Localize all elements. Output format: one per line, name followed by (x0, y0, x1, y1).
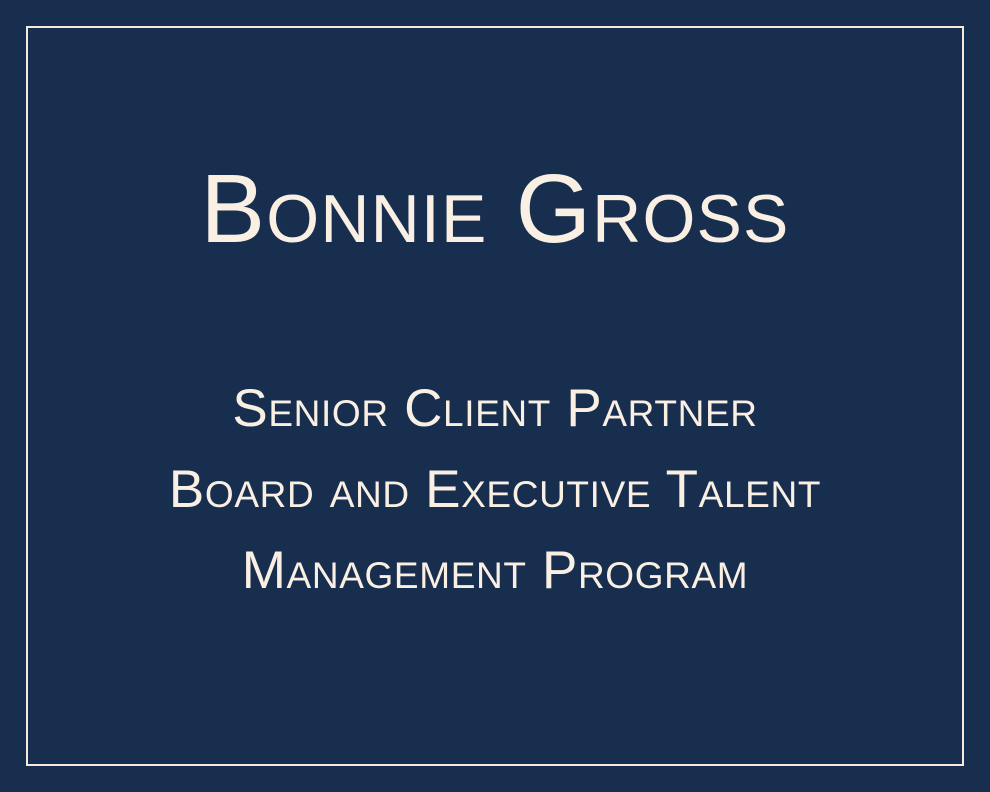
subtitle-block: Senior Client Partner Board and Executiv… (0, 368, 990, 611)
title-slide: Bonnie Gross Senior Client Partner Board… (0, 0, 990, 792)
subtitle-line-role: Senior Client Partner (0, 368, 990, 449)
subtitle-line-practice-2: Management Program (0, 530, 990, 611)
person-name-title: Bonnie Gross (0, 160, 990, 257)
subtitle-line-practice-1: Board and Executive Talent (0, 449, 990, 530)
slide-content: Bonnie Gross Senior Client Partner Board… (0, 0, 990, 792)
